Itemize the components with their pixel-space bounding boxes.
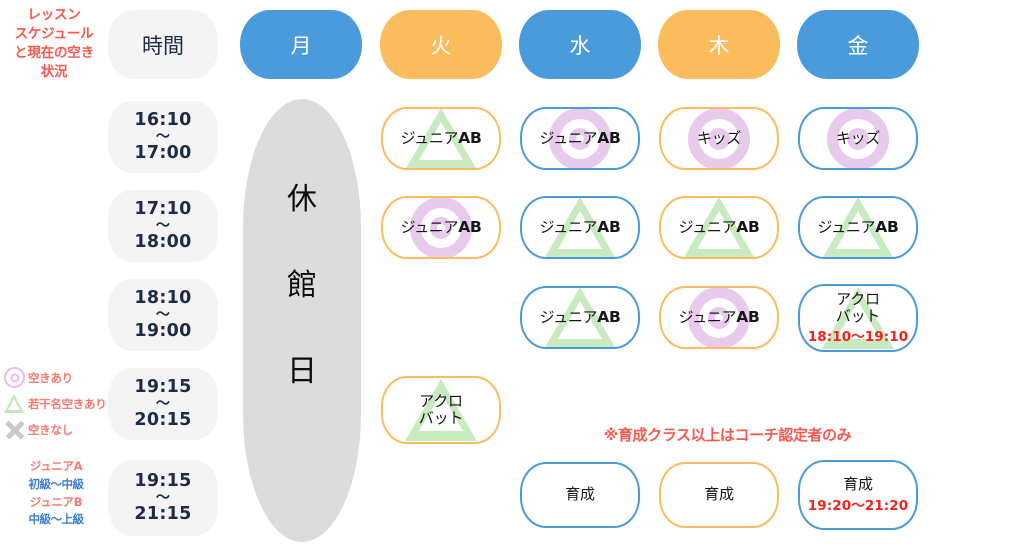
lesson-cell-wed-5[interactable]: 育成	[520, 462, 640, 528]
time-start-3: 18:10	[134, 289, 191, 307]
lesson-time-badge: 19:20〜21:20	[808, 494, 909, 514]
lesson-cell-tue-4[interactable]: アクロ バット	[381, 376, 501, 444]
lesson-label-line-1: アクロ	[419, 393, 463, 410]
class-level-key: ジュニアA 初級〜中級 ジュニアB 中級〜上級	[2, 458, 110, 529]
time-end-1: 17:00	[134, 144, 191, 162]
lesson-cell-thu-2[interactable]: ジュニアAB	[659, 196, 779, 259]
class-key-level-a: 初級〜中級	[2, 476, 110, 494]
header-day-fri[interactable]: 金	[797, 10, 919, 79]
time-tilde-3: 〜	[156, 308, 170, 323]
lesson-cell-thu-5[interactable]: 育成	[659, 462, 779, 528]
lesson-cell-tue-1[interactable]: ジュニアAB	[381, 107, 501, 170]
header-day-thu[interactable]: 木	[658, 10, 780, 79]
header-day-wed[interactable]: 水	[519, 10, 641, 79]
time-start-2: 17:10	[134, 200, 191, 218]
lesson-cell-wed-1[interactable]: ジュニアAB	[520, 107, 640, 170]
legend-item-available: 空きあり	[2, 365, 110, 391]
lesson-cell-fri-3[interactable]: アクロ バット 18:10〜19:10	[798, 284, 918, 352]
time-cell-1: 16:10 〜 17:00	[108, 101, 218, 173]
legend-label: 空きなし	[28, 422, 73, 438]
time-tilde-1: 〜	[156, 130, 170, 145]
coach-certification-note: ※育成クラス以上はコーチ認定者のみ	[515, 424, 940, 445]
lesson-label: ジュニアAB	[540, 308, 621, 327]
closed-char-1: 休	[287, 185, 317, 215]
time-cell-4: 19:15 〜 20:15	[108, 368, 218, 440]
header-day-mon[interactable]: 月	[240, 10, 362, 79]
lesson-label: ジュニアAB	[540, 129, 621, 148]
page-title-line-4: 状況	[0, 63, 108, 82]
closed-char-3: 日	[287, 357, 317, 387]
header-time: 時間	[108, 10, 218, 79]
lesson-cell-tue-2[interactable]: ジュニアAB	[381, 196, 501, 259]
lesson-label: ジュニアAB	[679, 308, 760, 327]
class-key-level-b: 中級〜上級	[2, 511, 110, 529]
time-cell-5: 19:15 〜 21:15	[108, 460, 218, 536]
legend-item-few-left: 若干名空きあり	[2, 391, 110, 417]
lesson-cell-thu-3[interactable]: ジュニアAB	[659, 286, 779, 349]
lesson-label: 育成	[565, 486, 594, 504]
triangle-icon	[2, 392, 28, 416]
lesson-label: ジュニアAB	[401, 129, 482, 148]
lesson-label-line-2: バット	[836, 308, 880, 325]
lesson-cell-thu-1[interactable]: キッズ	[659, 107, 779, 170]
lesson-label: キッズ	[836, 130, 880, 148]
lesson-label-line-2: バット	[419, 410, 463, 427]
time-end-3: 19:00	[134, 322, 191, 340]
header-day-tue[interactable]: 火	[380, 10, 502, 79]
cross-icon	[2, 418, 28, 442]
lesson-label: ジュニアAB	[818, 218, 899, 237]
lesson-cell-wed-3[interactable]: ジュニアAB	[520, 286, 640, 349]
time-start-5: 19:15	[134, 472, 191, 490]
time-tilde-5: 〜	[156, 491, 170, 506]
page-title: レッスン スケジュール と現在の空き 状況	[0, 6, 108, 83]
lesson-cell-fri-5[interactable]: 育成 19:20〜21:20	[798, 460, 918, 530]
time-cell-3: 18:10 〜 19:00	[108, 279, 218, 351]
time-tilde-4: 〜	[156, 397, 170, 412]
lesson-label: ジュニアAB	[679, 218, 760, 237]
lesson-cell-fri-1[interactable]: キッズ	[798, 107, 918, 170]
closed-char-2: 館	[287, 271, 317, 301]
double-circle-icon	[2, 366, 28, 390]
schedule-sheet: レッスン スケジュール と現在の空き 状況 時間 月 火 水 木 金 16:10…	[0, 0, 1024, 551]
lesson-label: キッズ	[697, 130, 741, 148]
time-cell-2: 17:10 〜 18:00	[108, 190, 218, 262]
time-start-4: 19:15	[134, 378, 191, 396]
lesson-label: 育成	[704, 486, 733, 504]
legend-item-full: 空きなし	[2, 417, 110, 443]
legend-label: 空きあり	[28, 370, 73, 386]
time-start-1: 16:10	[134, 111, 191, 129]
class-key-name-b: ジュニアB	[2, 494, 110, 512]
time-end-5: 21:15	[134, 505, 191, 523]
lesson-label: 育成	[843, 476, 872, 494]
page-title-line-2: スケジュール	[0, 25, 108, 44]
lesson-label: ジュニアAB	[401, 218, 482, 237]
lesson-cell-fri-2[interactable]: ジュニアAB	[798, 196, 918, 259]
legend-label: 若干名空きあり	[28, 396, 106, 412]
monday-closed-block: 休 館 日	[243, 99, 361, 542]
time-end-4: 20:15	[134, 411, 191, 429]
page-title-line-3: と現在の空き	[0, 44, 108, 63]
availability-legend: 空きあり 若干名空きあり 空きなし	[2, 365, 110, 443]
lesson-time-badge: 18:10〜19:10	[808, 325, 909, 345]
lesson-label: ジュニアAB	[540, 218, 621, 237]
lesson-cell-wed-2[interactable]: ジュニアAB	[520, 196, 640, 259]
lesson-label-line-1: アクロ	[836, 291, 880, 308]
page-title-line-1: レッスン	[0, 6, 108, 25]
time-end-2: 18:00	[134, 233, 191, 251]
time-tilde-2: 〜	[156, 219, 170, 234]
class-key-name-a: ジュニアA	[2, 458, 110, 476]
